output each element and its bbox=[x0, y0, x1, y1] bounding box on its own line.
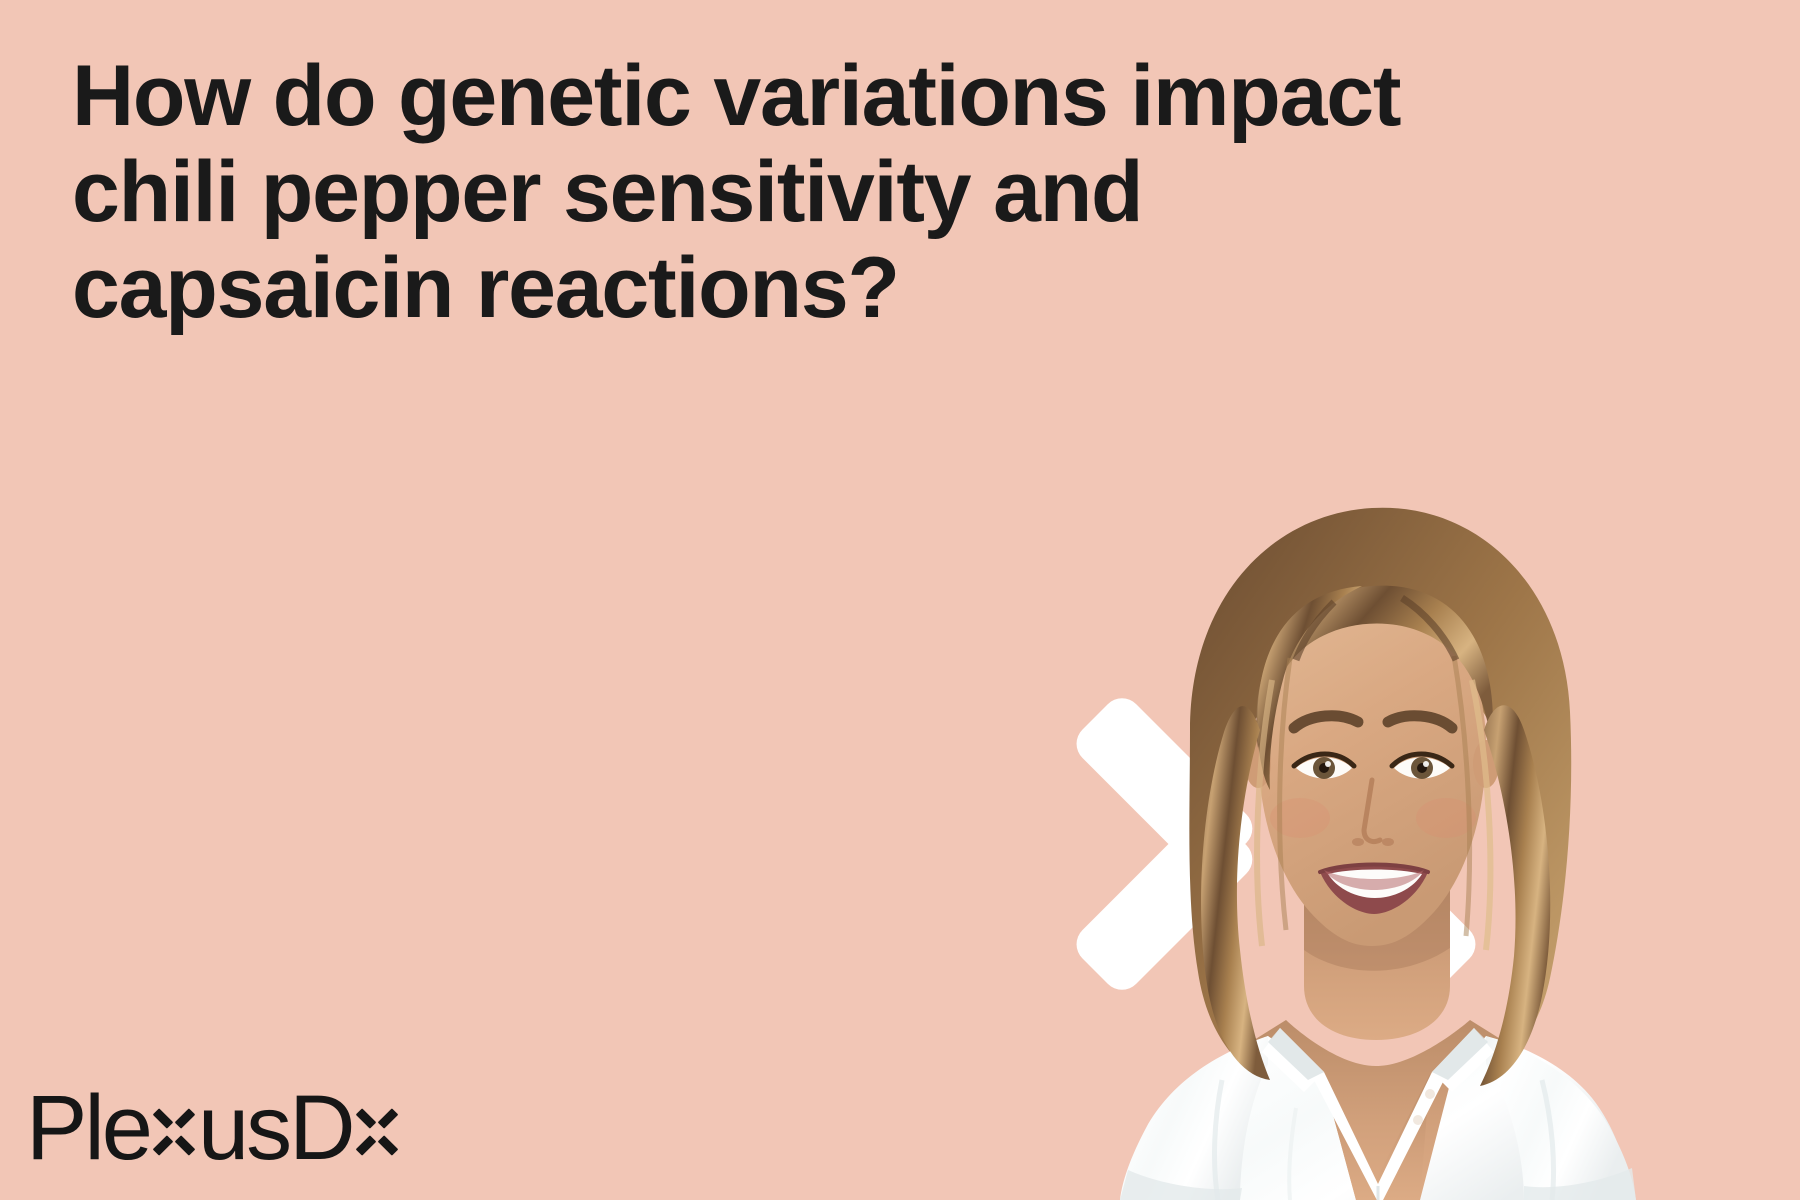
portrait-photo bbox=[1072, 480, 1722, 1200]
brand-name-part-one: Ple bbox=[26, 1082, 150, 1174]
starburst-x-icon-2 bbox=[354, 1109, 400, 1155]
brand-logo[interactable]: Ple usD bbox=[26, 1082, 401, 1168]
social-card: How do genetic variations impact chili p… bbox=[0, 0, 1800, 1200]
page-title: How do genetic variations impact chili p… bbox=[72, 48, 1472, 336]
brand-name-part-two: usD bbox=[198, 1082, 353, 1174]
starburst-x-icon bbox=[151, 1109, 197, 1155]
